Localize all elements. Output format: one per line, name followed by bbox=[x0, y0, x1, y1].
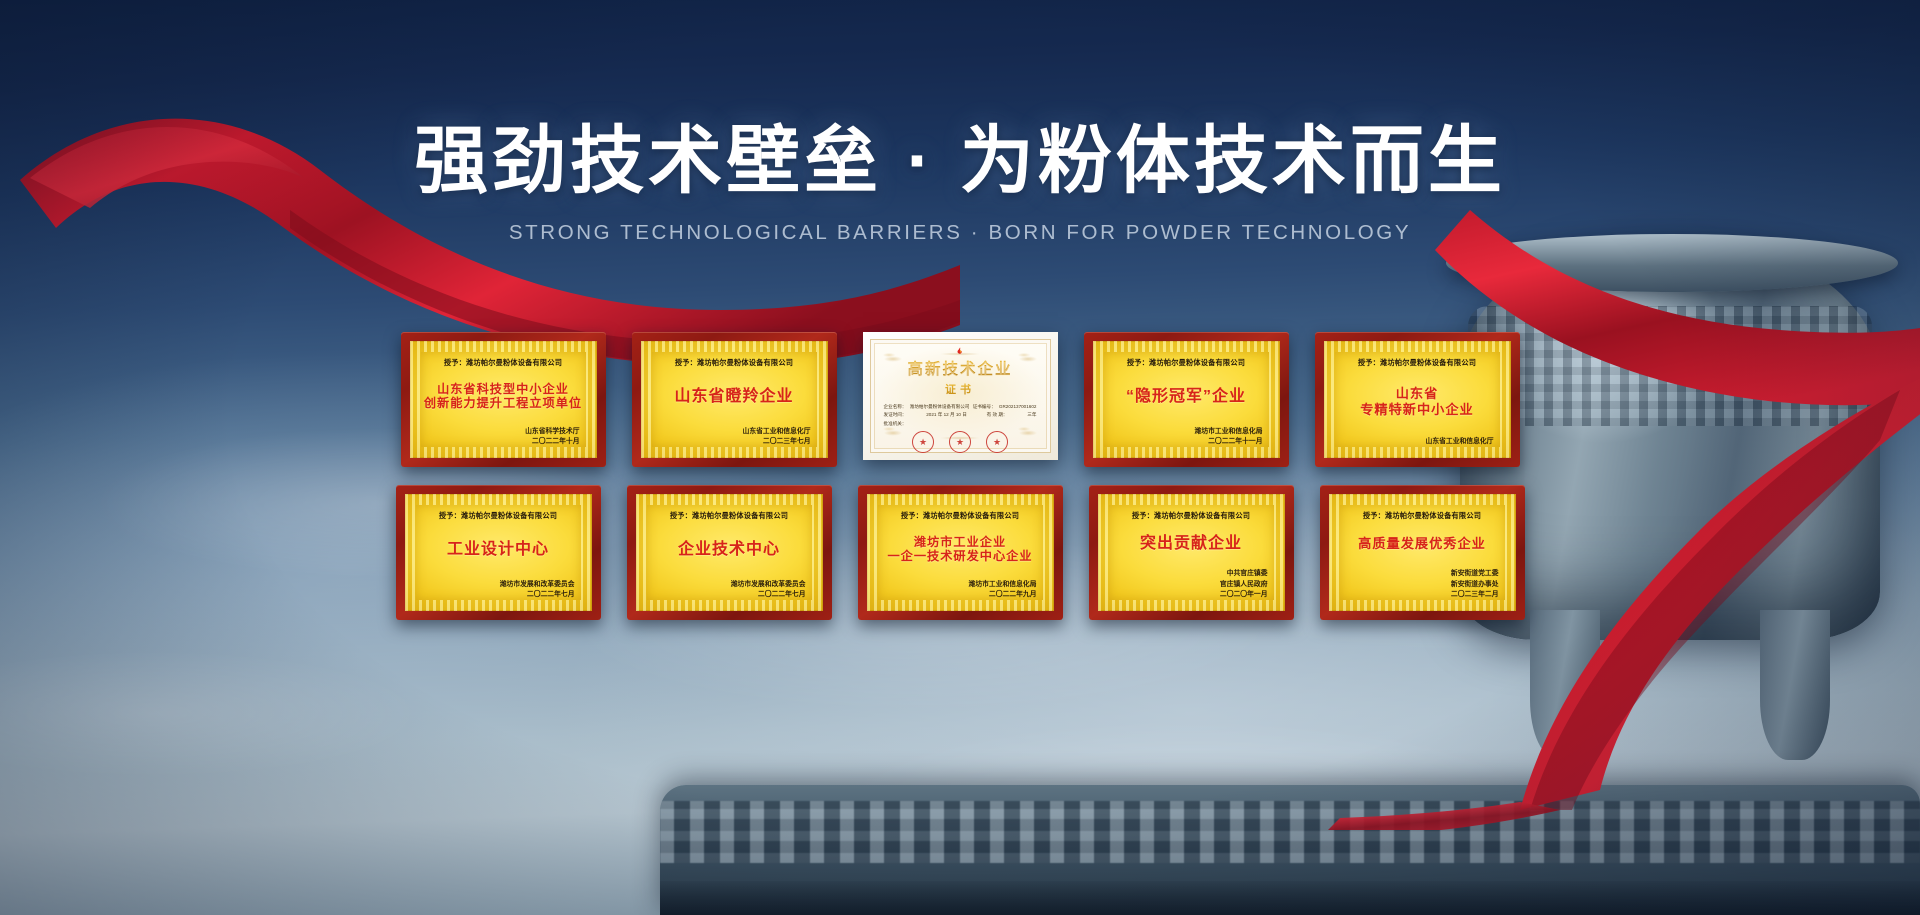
plaque-title-line: 突出贡献企业 bbox=[1140, 534, 1242, 554]
certificate-fields: 企业名称： 潍坊帕尔曼粉体设备有限公司 证书编号： GR202137001602… bbox=[870, 397, 1051, 428]
plaque-issuer-line: 山东省工业和信息化厅 bbox=[743, 427, 811, 438]
certificate-field-label: 有 效 期： bbox=[987, 411, 1008, 419]
plaque-issuer-line: 新安街道办事处 bbox=[1451, 580, 1499, 591]
certificate-field-value: 潍坊帕尔曼粉体设备有限公司 bbox=[910, 403, 970, 411]
plaque-title: 山东省瞪羚企业 bbox=[674, 366, 793, 427]
certificate-field-label: 企业名称： bbox=[884, 403, 907, 411]
plaque-title-line: 工业设计中心 bbox=[447, 540, 549, 560]
certificate-field-row: 企业名称： 潍坊帕尔曼粉体设备有限公司 证书编号： GR202137001602 bbox=[884, 403, 1037, 411]
honors-row-top: 授予：潍坊帕尔曼粉体设备有限公司 山东省科技型中小企业 创新能力提升工程立项单位… bbox=[0, 332, 1920, 467]
plaque-title-line: “隐形冠军”企业 bbox=[1126, 387, 1246, 407]
plaque-issuer-line: 山东省科学技术厅 bbox=[525, 427, 579, 438]
page-subtitle: STRONG TECHNOLOGICAL BARRIERS · BORN FOR… bbox=[0, 221, 1920, 245]
plaque-issuer: 中共官庄镇委 官庄镇人民政府 二〇二〇年一月 bbox=[1220, 569, 1268, 601]
plaque-issuer-line: 二〇二三年七月 bbox=[743, 437, 811, 448]
honors-grid: 授予：潍坊帕尔曼粉体设备有限公司 山东省科技型中小企业 创新能力提升工程立项单位… bbox=[0, 332, 1920, 620]
plaque-title-line: 山东省科技型中小企业 bbox=[437, 382, 569, 397]
plaque-issuer-line: 潍坊市发展和改革委员会 bbox=[731, 580, 806, 591]
plaque-issuer: 潍坊市发展和改革委员会 二〇二二年七月 bbox=[731, 580, 806, 601]
plaque-card[interactable]: 授予：潍坊帕尔曼粉体设备有限公司 突出贡献企业 中共官庄镇委 官庄镇人民政府 二… bbox=[1089, 485, 1294, 620]
plaque-issuer: 潍坊市工业和信息化局 二〇二二年十一月 bbox=[1195, 427, 1263, 448]
plaque-title-line: 潍坊市工业企业 bbox=[914, 535, 1006, 550]
plaque-card[interactable]: 授予：潍坊帕尔曼粉体设备有限公司 潍坊市工业企业 一企一技术研发中心企业 潍坊市… bbox=[858, 485, 1063, 620]
plaque-title-line: 一企一技术研发中心企业 bbox=[887, 549, 1032, 564]
plaque-title: 高质量发展优秀企业 bbox=[1358, 519, 1486, 569]
certificate-corner-ornament bbox=[1015, 349, 1041, 369]
certificate-field-value: GR202137001602 bbox=[999, 403, 1037, 411]
plaque-issuer-line: 潍坊市工业和信息化局 bbox=[1195, 427, 1263, 438]
certificate-title: 高新技术企业 bbox=[907, 357, 1012, 379]
plaque-issuer-line: 二〇二二年七月 bbox=[731, 590, 806, 601]
plaque-title: 山东省科技型中小企业 创新能力提升工程立项单位 bbox=[424, 366, 582, 427]
plaque-title: 山东省 专精特新中小企业 bbox=[1360, 366, 1474, 437]
certificate-seals: ★ ★ ★ bbox=[912, 431, 1008, 453]
plaque-inner: 授予：潍坊帕尔曼粉体设备有限公司 山东省科技型中小企业 创新能力提升工程立项单位… bbox=[410, 341, 597, 458]
plaque-inner: 授予：潍坊帕尔曼粉体设备有限公司 突出贡献企业 中共官庄镇委 官庄镇人民政府 二… bbox=[1098, 494, 1285, 611]
flame-icon bbox=[953, 347, 967, 356]
plaque-issuer-line: 新安街道党工委 bbox=[1451, 569, 1499, 580]
plaque-title-line: 创新能力提升工程立项单位 bbox=[424, 396, 582, 411]
certificate-field-row: 批准机关： bbox=[884, 420, 1037, 428]
certificate-subtitle: 证书 bbox=[945, 381, 975, 397]
banner-headings: 强劲技术壁垒 · 为粉体技术而生 STRONG TECHNOLOGICAL BA… bbox=[0, 120, 1920, 245]
plaque-inner: 授予：潍坊帕尔曼粉体设备有限公司 高质量发展优秀企业 新安街道党工委 新安街道办… bbox=[1329, 494, 1516, 611]
banner-stage: 强劲技术壁垒 · 为粉体技术而生 STRONG TECHNOLOGICAL BA… bbox=[0, 0, 1920, 915]
certificate-inner: 高新技术企业 证书 企业名称： 潍坊帕尔曼粉体设备有限公司 证书编号： GR20… bbox=[870, 339, 1051, 453]
plaque-issuer: 山东省工业和信息化厅 bbox=[1426, 437, 1494, 448]
certificate-field-row: 发证时间： 2021 年 12 月 10 日 有 效 期： 三年 bbox=[884, 411, 1037, 419]
plaque-issuer: 潍坊市发展和改革委员会 二〇二二年七月 bbox=[500, 580, 575, 601]
plaque-inner: 授予：潍坊帕尔曼粉体设备有限公司 企业技术中心 潍坊市发展和改革委员会 二〇二二… bbox=[636, 494, 823, 611]
plaque-inner: 授予：潍坊帕尔曼粉体设备有限公司 工业设计中心 潍坊市发展和改革委员会 二〇二二… bbox=[405, 494, 592, 611]
plaque-issuer-line: 二〇二二年九月 bbox=[969, 590, 1037, 601]
plaque-title-line: 高质量发展优秀企业 bbox=[1358, 536, 1486, 552]
plaque-card[interactable]: 授予：潍坊帕尔曼粉体设备有限公司 “隐形冠军”企业 潍坊市工业和信息化局 二〇二… bbox=[1084, 332, 1289, 467]
plaque-issuer-line: 二〇二〇年一月 bbox=[1220, 590, 1268, 601]
plaque-issuer-line: 二〇二三年二月 bbox=[1451, 590, 1499, 601]
high-tech-certificate[interactable]: 高新技术企业 证书 企业名称： 潍坊帕尔曼粉体设备有限公司 证书编号： GR20… bbox=[863, 332, 1058, 460]
plaque-title-line: 专精特新中小企业 bbox=[1360, 402, 1474, 418]
plaque-inner: 授予：潍坊帕尔曼粉体设备有限公司 山东省 专精特新中小企业 山东省工业和信息化厅 bbox=[1324, 341, 1511, 458]
plaque-issuer: 山东省工业和信息化厅 二〇二三年七月 bbox=[743, 427, 811, 448]
certificate-field-value: 2021 年 12 月 10 日 bbox=[926, 411, 967, 419]
plaque-card[interactable]: 授予：潍坊帕尔曼粉体设备有限公司 山东省 专精特新中小企业 山东省工业和信息化厅 bbox=[1315, 332, 1520, 467]
plaque-title-line: 山东省瞪羚企业 bbox=[674, 387, 793, 407]
plaque-issuer: 潍坊市工业和信息化局 二〇二二年九月 bbox=[969, 580, 1037, 601]
plaque-title: “隐形冠军”企业 bbox=[1126, 366, 1246, 427]
plaque-issuer: 山东省科学技术厅 二〇二二年十月 bbox=[525, 427, 579, 448]
plaque-card[interactable]: 授予：潍坊帕尔曼粉体设备有限公司 高质量发展优秀企业 新安街道党工委 新安街道办… bbox=[1320, 485, 1525, 620]
seal-icon: ★ bbox=[912, 431, 934, 453]
plaque-card[interactable]: 授予：潍坊帕尔曼粉体设备有限公司 工业设计中心 潍坊市发展和改革委员会 二〇二二… bbox=[396, 485, 601, 620]
plaque-issuer-line: 二〇二二年十月 bbox=[525, 437, 579, 448]
certificate-field-label: 批准机关： bbox=[884, 420, 907, 428]
plaque-card[interactable]: 授予：潍坊帕尔曼粉体设备有限公司 山东省科技型中小企业 创新能力提升工程立项单位… bbox=[401, 332, 606, 467]
plaque-inner: 授予：潍坊帕尔曼粉体设备有限公司 山东省瞪羚企业 山东省工业和信息化厅 二〇二三… bbox=[641, 341, 828, 458]
plaque-card[interactable]: 授予：潍坊帕尔曼粉体设备有限公司 企业技术中心 潍坊市发展和改革委员会 二〇二二… bbox=[627, 485, 832, 620]
plaque-issuer-line: 潍坊市工业和信息化局 bbox=[969, 580, 1037, 591]
certificate-field-label: 发证时间： bbox=[884, 411, 907, 419]
plaque-title: 企业技术中心 bbox=[678, 519, 780, 580]
plaque-title: 突出贡献企业 bbox=[1140, 519, 1242, 569]
plaque-title-line: 企业技术中心 bbox=[678, 540, 780, 560]
seal-icon: ★ bbox=[949, 431, 971, 453]
plaque-issuer-line: 二〇二二年七月 bbox=[500, 590, 575, 601]
plaque-inner: 授予：潍坊帕尔曼粉体设备有限公司 “隐形冠军”企业 潍坊市工业和信息化局 二〇二… bbox=[1093, 341, 1280, 458]
plaque-title-line: 山东省 bbox=[1396, 386, 1439, 402]
certificate-field-value: 三年 bbox=[1027, 411, 1036, 419]
page-title: 强劲技术壁垒 · 为粉体技术而生 bbox=[0, 120, 1920, 203]
seal-icon: ★ bbox=[986, 431, 1008, 453]
plaque-issuer-line: 中共官庄镇委 bbox=[1220, 569, 1268, 580]
plaque-card[interactable]: 授予：潍坊帕尔曼粉体设备有限公司 山东省瞪羚企业 山东省工业和信息化厅 二〇二三… bbox=[632, 332, 837, 467]
plaque-issuer-line: 潍坊市发展和改革委员会 bbox=[500, 580, 575, 591]
plaque-inner: 授予：潍坊帕尔曼粉体设备有限公司 潍坊市工业企业 一企一技术研发中心企业 潍坊市… bbox=[867, 494, 1054, 611]
plaque-issuer-line: 山东省工业和信息化厅 bbox=[1426, 437, 1494, 448]
plaque-issuer-line: 官庄镇人民政府 bbox=[1220, 580, 1268, 591]
plaque-title: 工业设计中心 bbox=[447, 519, 549, 580]
plaque-issuer: 新安街道党工委 新安街道办事处 二〇二三年二月 bbox=[1451, 569, 1499, 601]
certificate-corner-ornament bbox=[880, 349, 906, 369]
certificate-field-label: 证书编号： bbox=[973, 403, 996, 411]
plaque-title: 潍坊市工业企业 一企一技术研发中心企业 bbox=[887, 519, 1032, 580]
plaque-issuer-line: 二〇二二年十一月 bbox=[1195, 437, 1263, 448]
honors-row-bottom: 授予：潍坊帕尔曼粉体设备有限公司 工业设计中心 潍坊市发展和改革委员会 二〇二二… bbox=[0, 485, 1920, 620]
